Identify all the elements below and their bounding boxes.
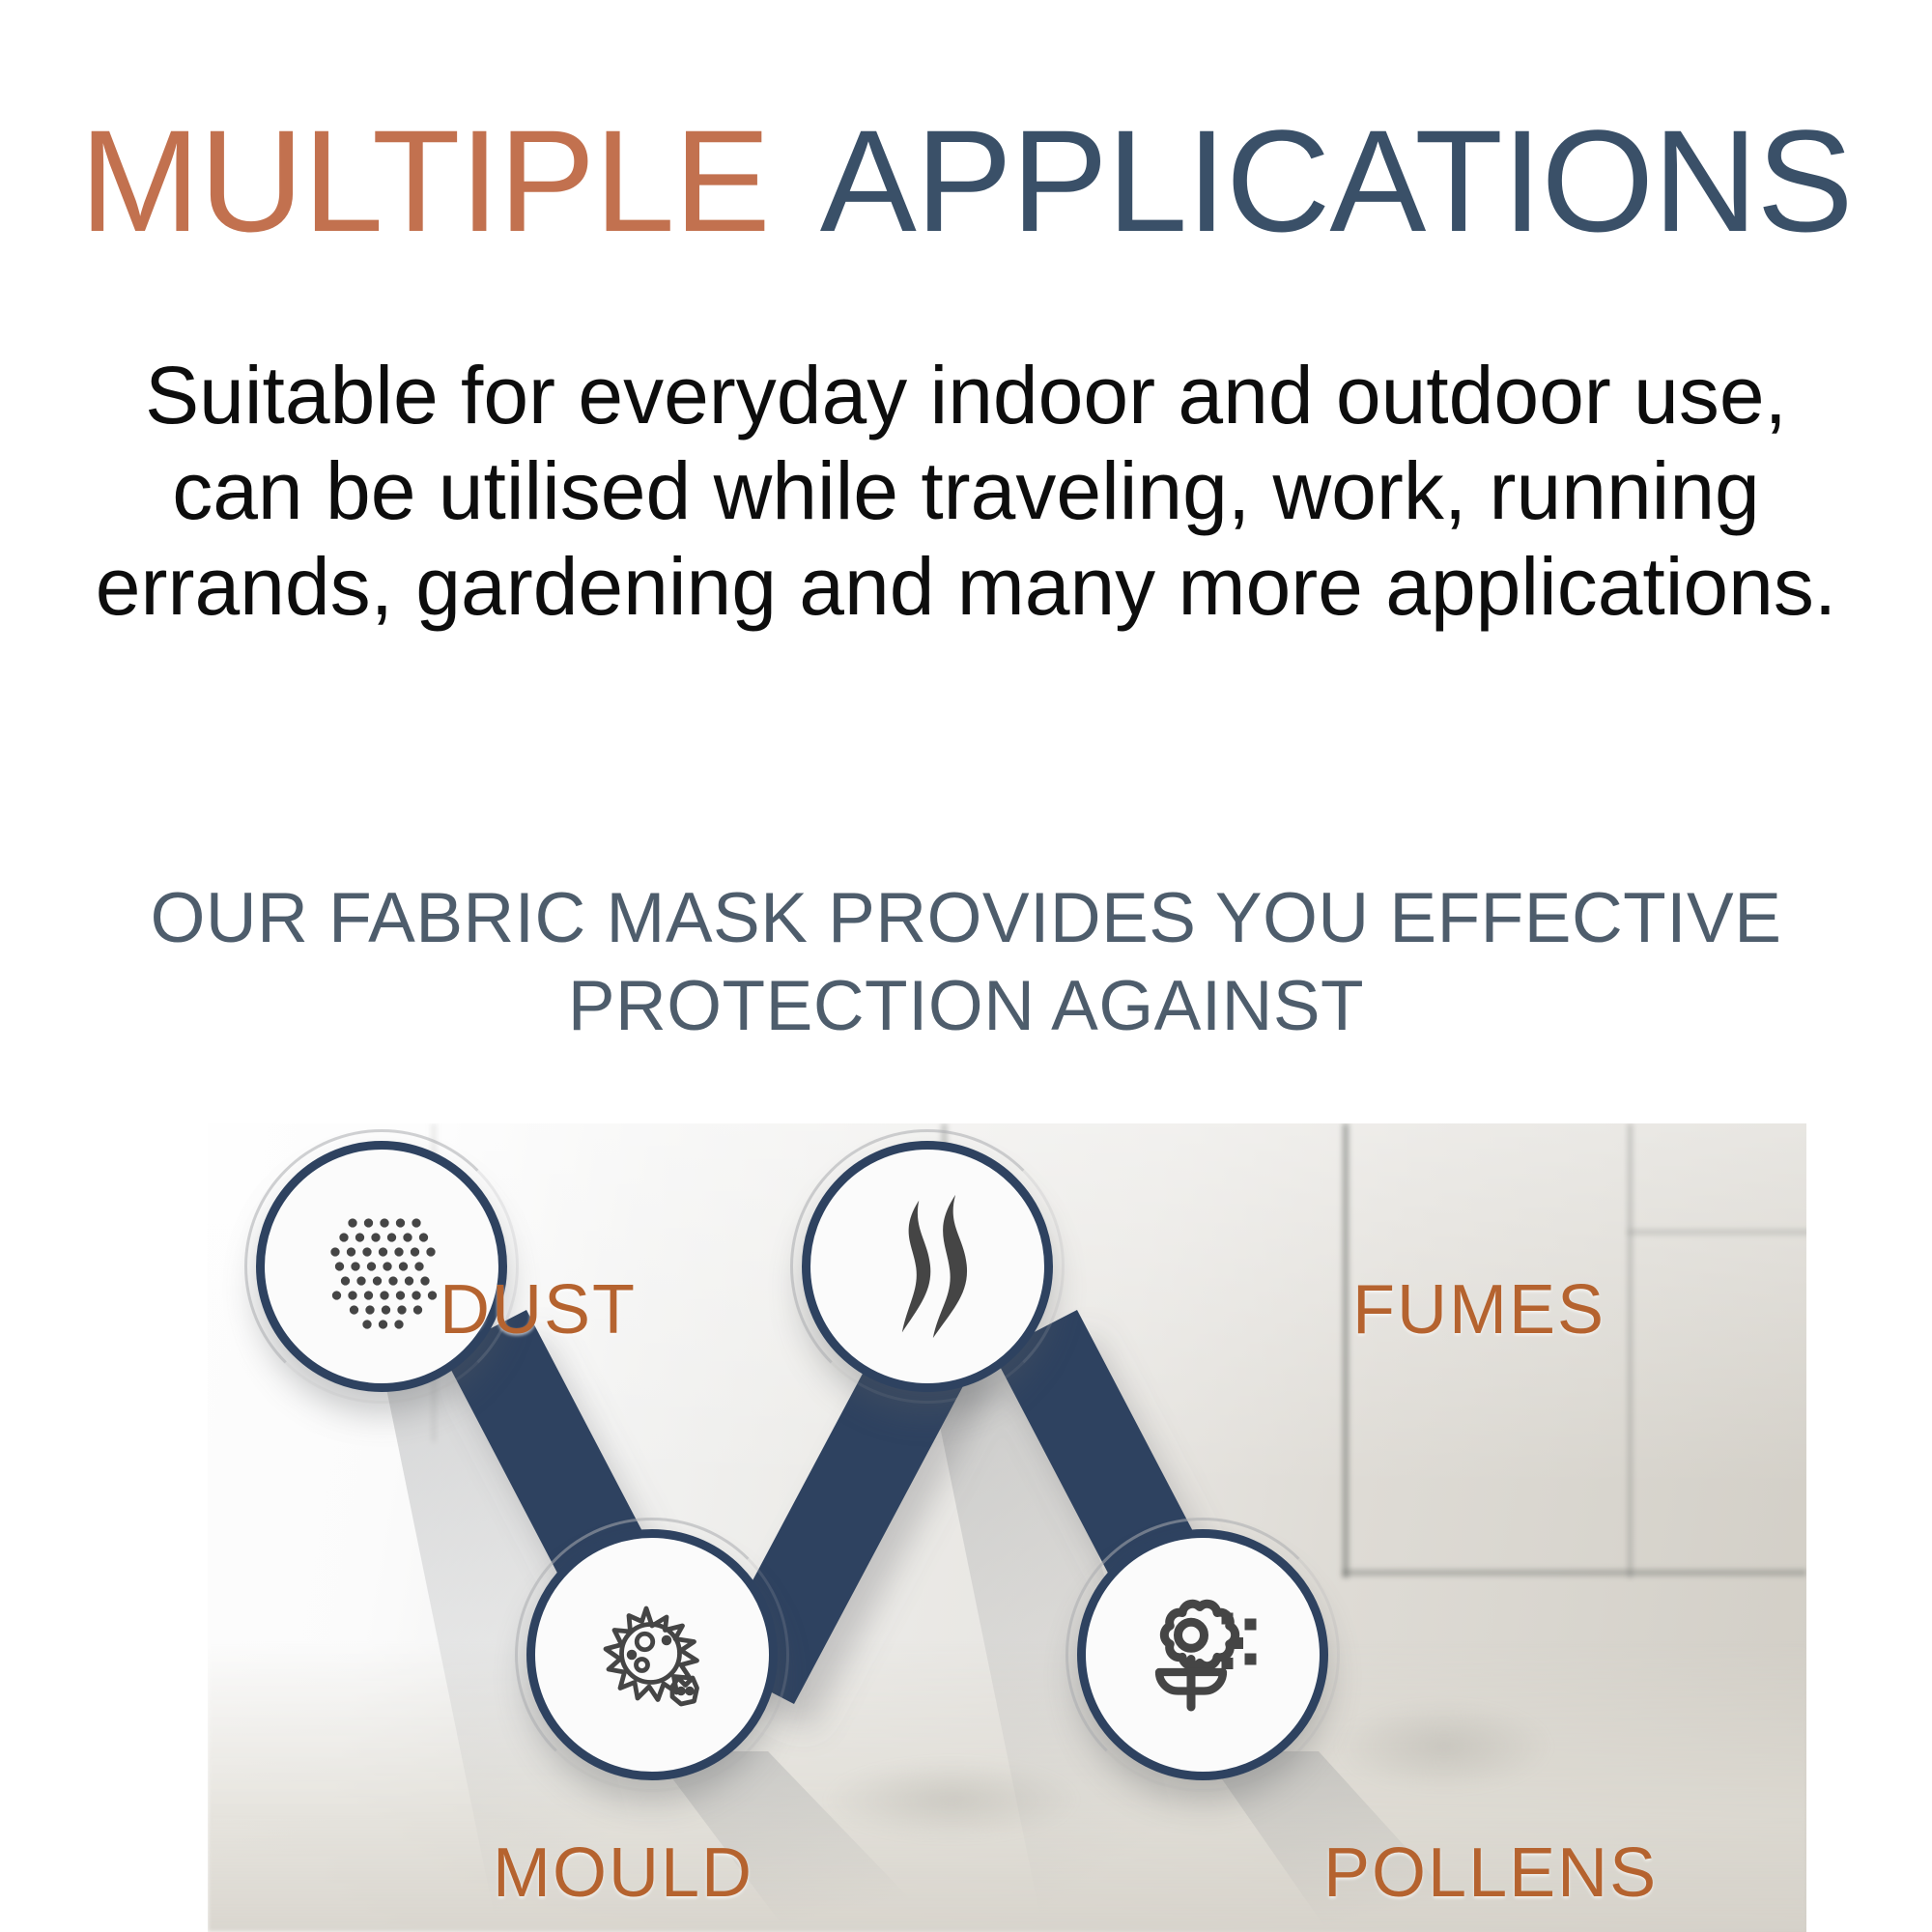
- lead-paragraph: Suitable for everyday indoor and outdoor…: [87, 348, 1845, 635]
- node-label-pollens: POLLENS: [1323, 1833, 1658, 1913]
- diagram-node-fumes[interactable]: [802, 1141, 1053, 1392]
- infographic-page: MULTIPLEAPPLICATIONS Suitable for everyd…: [0, 0, 1932, 1932]
- dust-dots-icon: [309, 1194, 454, 1339]
- subhead-text: OUR FABRIC MASK PROVIDES YOU EFFECTIVE P…: [77, 874, 1855, 1051]
- diagram-node-pollens[interactable]: [1077, 1529, 1328, 1780]
- title-word-primary: MULTIPLE: [79, 99, 769, 262]
- diagram-node-mould[interactable]: [526, 1529, 778, 1780]
- mould-microbe-icon: [580, 1582, 724, 1727]
- flower-pollen-icon: [1130, 1582, 1275, 1727]
- diagram-node-dust[interactable]: [256, 1141, 507, 1392]
- smoke-fumes-icon: [865, 1189, 990, 1344]
- node-label-fumes: FUMES: [1352, 1270, 1605, 1350]
- page-title: MULTIPLEAPPLICATIONS: [0, 108, 1932, 253]
- title-word-secondary: APPLICATIONS: [820, 99, 1853, 262]
- node-label-dust: DUST: [440, 1270, 637, 1350]
- diagram-photo-panel: [208, 1123, 1806, 1932]
- node-label-mould: MOULD: [493, 1833, 753, 1913]
